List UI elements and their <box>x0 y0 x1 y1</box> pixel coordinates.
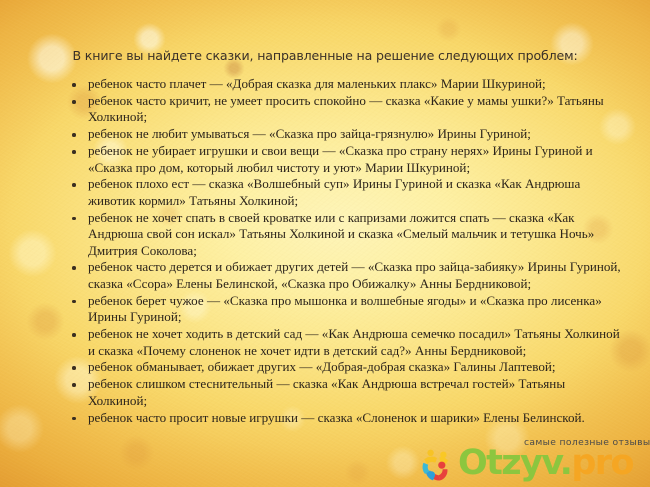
logo-name-main: Otzyv <box>458 443 560 483</box>
logo-name-tld: pro <box>571 443 633 483</box>
page-title: В книге вы найдете сказки, направленные … <box>60 48 590 63</box>
list-item: ребенок не хочет спать в своей кроватке … <box>62 210 622 259</box>
logo-name-dot: . <box>560 443 572 483</box>
page-root: В книге вы найдете сказки, направленные … <box>0 0 650 487</box>
list-item: ребенок часто плачет — «Добрая сказка дл… <box>62 76 622 92</box>
list-item: ребенок часто кричит, не умеет просить с… <box>62 93 622 126</box>
problems-list: ребенок часто плачет — «Добрая сказка дл… <box>62 76 622 427</box>
list-item: ребенок берет чужое — «Сказка про мышонк… <box>62 293 622 326</box>
site-watermark-logo[interactable]: самые полезные отзывы <box>414 435 650 487</box>
page-content: В книге вы найдете сказки, направленные … <box>0 0 650 487</box>
list-item: ребенок плохо ест — сказка «Волшебный су… <box>62 176 622 209</box>
list-item: ребенок обманывает, обижает других — «До… <box>62 359 622 375</box>
people-circle-icon <box>416 446 458 486</box>
list-item: ребенок слишком стеснительный — сказка «… <box>62 376 622 409</box>
list-item: ребенок не хочет ходить в детский сад — … <box>62 326 622 359</box>
list-item: ребенок часто дерется и обижает других д… <box>62 259 622 292</box>
list-item: ребенок часто просит новые игрушки — ска… <box>62 410 622 426</box>
list-item: ребенок не любит умываться — «Сказка про… <box>62 126 622 142</box>
logo-wordmark: Otzyv.pro <box>458 443 633 483</box>
list-item: ребенок не убирает игрушки и свои вещи —… <box>62 143 622 176</box>
